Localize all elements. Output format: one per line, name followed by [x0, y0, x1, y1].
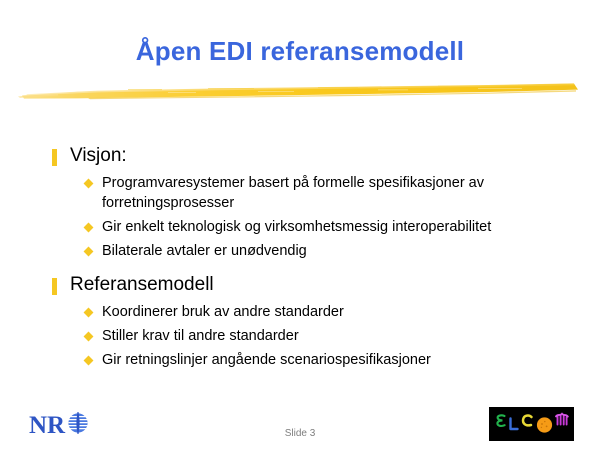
elcom-logo: [489, 407, 574, 441]
outline-level2-list-visjon: Programvaresystemer basert på formelle s…: [52, 173, 582, 261]
list-item: Gir enkelt teknologisk og virksomhetsmes…: [52, 217, 582, 237]
bullet-diamond-icon: [84, 356, 94, 366]
nr-logo: NR: [29, 410, 90, 440]
outline-level1-label: Referansemodell: [70, 273, 214, 297]
brush-stroke-decoration: [18, 80, 582, 108]
list-item-label: Gir enkelt teknologisk og virksomhetsmes…: [102, 217, 491, 237]
list-item: Programvaresystemer basert på formelle s…: [52, 173, 582, 213]
nr-logo-text: NR: [29, 413, 65, 438]
section-spacer: [52, 265, 582, 273]
slide-body: Visjon: Programvaresystemer basert på fo…: [52, 144, 582, 374]
bullet-bar-icon: [52, 278, 57, 295]
outline-level1-referansemodell: Referansemodell: [52, 273, 582, 297]
list-item: Koordinerer bruk av andre standarder: [52, 302, 582, 322]
bullet-diamond-icon: [84, 247, 94, 257]
outline-level1-label: Visjon:: [70, 144, 127, 168]
outline-level1-visjon: Visjon:: [52, 144, 582, 168]
list-item: Gir retningslinjer angående scenariospes…: [52, 350, 582, 370]
outline-level2-list-referansemodell: Koordinerer bruk av andre standarder Sti…: [52, 302, 582, 370]
bullet-diamond-icon: [84, 179, 94, 189]
content-group-visjon: Visjon: Programvaresystemer basert på fo…: [52, 144, 582, 261]
bullet-bar-icon: [52, 149, 57, 166]
globe-icon: [66, 411, 90, 440]
elcom-letter-o: [537, 417, 552, 432]
content-group-referansemodell: Referansemodell Koordinerer bruk av andr…: [52, 273, 582, 370]
list-item-label: Programvaresystemer basert på formelle s…: [102, 173, 554, 213]
bullet-diamond-icon: [84, 308, 94, 318]
bullet-diamond-icon: [84, 223, 94, 233]
list-item: Bilaterale avtaler er unødvendig: [52, 241, 582, 261]
page-title: Åpen EDI referansemodell: [0, 36, 600, 67]
list-item-label: Bilaterale avtaler er unødvendig: [102, 241, 307, 261]
list-item-label: Stiller krav til andre standarder: [102, 326, 299, 346]
bullet-diamond-icon: [84, 332, 94, 342]
list-item: Stiller krav til andre standarder: [52, 326, 582, 346]
list-item-label: Gir retningslinjer angående scenariospes…: [102, 350, 431, 370]
list-item-label: Koordinerer bruk av andre standarder: [102, 302, 344, 322]
